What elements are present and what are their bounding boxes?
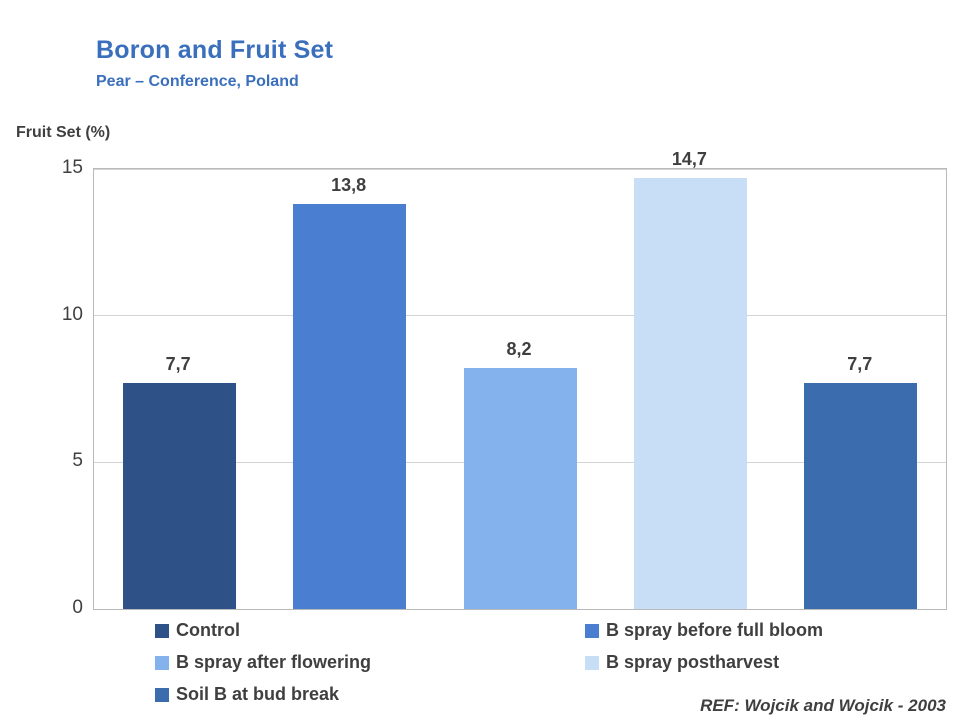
legend-item-label: B spray before full bloom (606, 620, 823, 641)
legend-swatch-icon (155, 656, 169, 670)
gridline (94, 169, 946, 170)
legend-swatch-icon (585, 656, 599, 670)
bar-3 (464, 368, 577, 609)
bar-value-label: 8,2 (449, 339, 589, 360)
y-axis-tick-label: 5 (13, 450, 83, 472)
bar-value-label: 13,8 (279, 175, 419, 196)
legend-item: Soil B at bud break (155, 684, 339, 705)
y-axis-tick-label: 15 (13, 157, 83, 179)
legend-item: B spray before full bloom (585, 620, 823, 641)
legend-item-label: B spray after flowering (176, 652, 371, 673)
legend-item-label: Control (176, 620, 240, 641)
bar-value-label: 7,7 (108, 354, 248, 375)
y-axis-tick-label: 0 (13, 597, 83, 619)
chart-subtitle: Pear – Conference, Poland (96, 73, 299, 91)
y-axis-tick-label: 10 (13, 304, 83, 326)
bar-4 (634, 178, 747, 609)
bar-1 (123, 383, 236, 609)
legend-item-label: B spray postharvest (606, 652, 779, 673)
y-axis-title: Fruit Set (%) (16, 124, 110, 142)
legend-swatch-icon (155, 688, 169, 702)
bar-5 (804, 383, 917, 609)
legend-swatch-icon (585, 624, 599, 638)
chart-page: Boron and Fruit Set Pear – Conference, P… (0, 0, 960, 720)
reference-note: REF: Wojcik and Wojcik - 2003 (700, 696, 946, 716)
legend-swatch-icon (155, 624, 169, 638)
legend-item-label: Soil B at bud break (176, 684, 339, 705)
gridline (94, 315, 946, 316)
bar-value-label: 14,7 (619, 149, 759, 170)
plot-area (93, 168, 947, 610)
bar-2 (293, 204, 406, 609)
y-axis-tick-labels: 051015 (0, 168, 83, 610)
bar-value-label: 7,7 (790, 354, 930, 375)
legend-item: B spray after flowering (155, 652, 371, 673)
legend-item: B spray postharvest (585, 652, 779, 673)
chart-title: Boron and Fruit Set (96, 36, 333, 65)
legend-item: Control (155, 620, 240, 641)
